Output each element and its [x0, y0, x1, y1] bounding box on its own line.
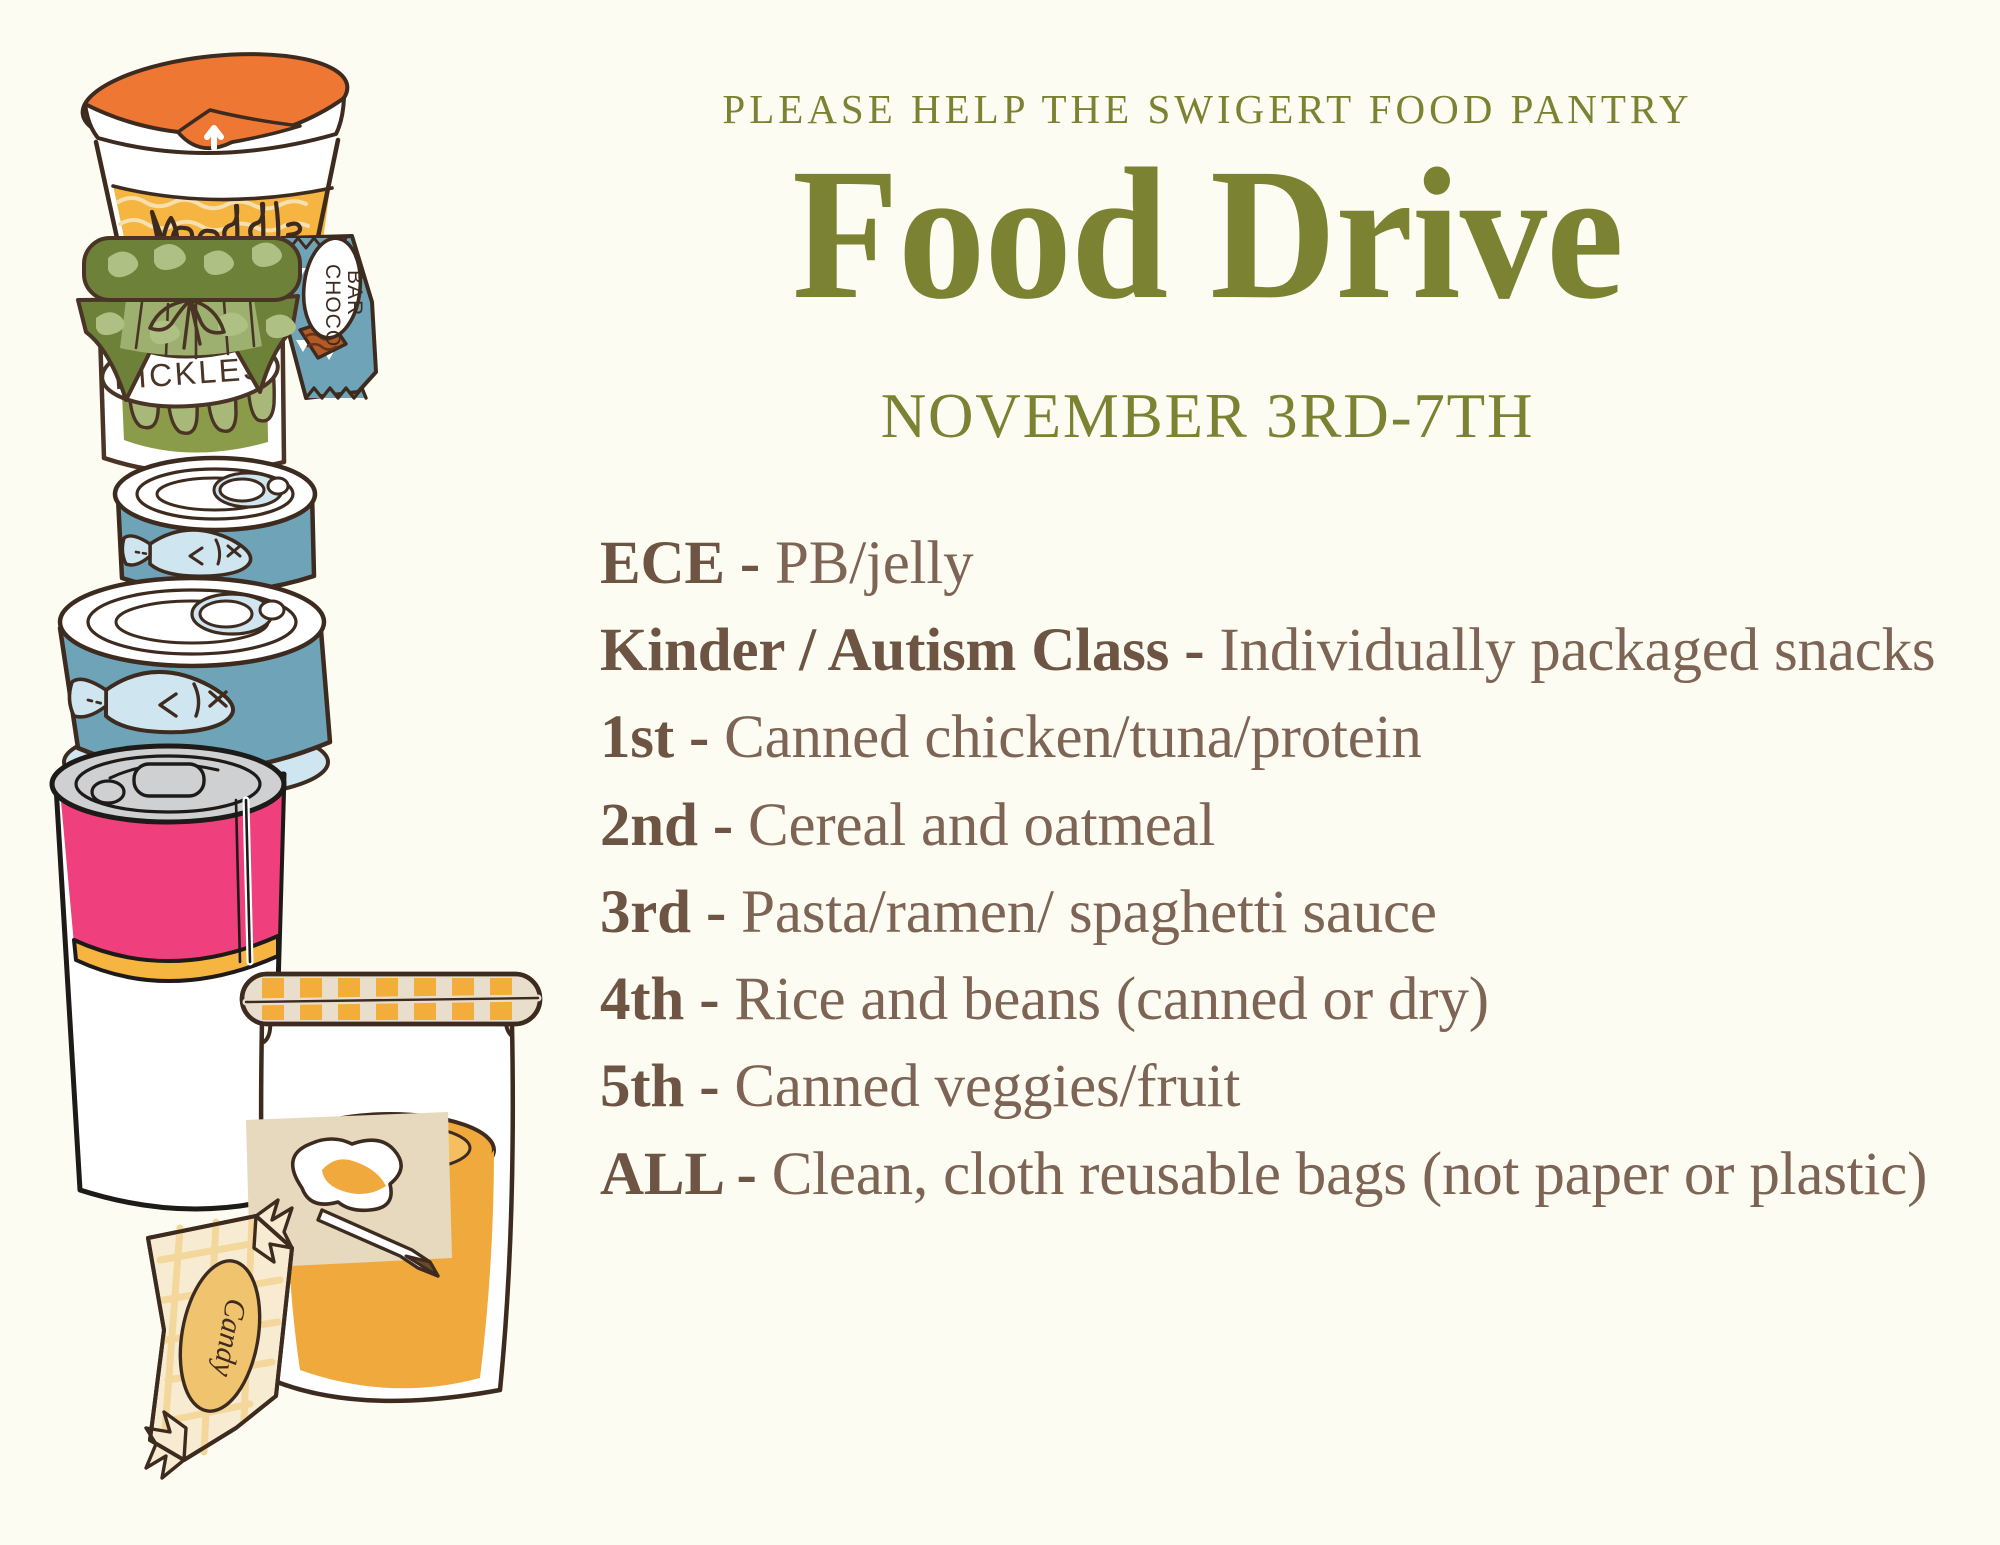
list-item: 1st - Canned chicken/tuna/protein: [600, 694, 2000, 781]
list-item-label: Kinder / Autism Class: [600, 617, 1169, 684]
poster-dateline: NOVEMBER 3RD-7TH: [600, 380, 1815, 453]
list-item-text: Canned veggies/fruit: [734, 1053, 1240, 1120]
sardine-can-upper-illustration: [115, 458, 315, 593]
list-item-dash: -: [1169, 617, 1219, 684]
svg-text:CHOCO: CHOCO: [321, 264, 344, 347]
list-item-dash: -: [691, 879, 741, 946]
list-item-dash: -: [684, 966, 734, 1033]
list-item-text: Clean, cloth reusable bags (not paper or…: [772, 1141, 1928, 1208]
list-item-dash: -: [674, 704, 724, 771]
list-item-label: ECE: [600, 530, 725, 597]
poster-eyebrow: PLEASE HELP THE SWIGERT FOOD PANTRY: [600, 85, 1815, 133]
peanut-butter-jar-illustration: [242, 974, 540, 1401]
poster-text-column: PLEASE HELP THE SWIGERT FOOD PANTRY Food…: [600, 0, 2000, 1545]
candy-wrapper-illustration: Candy: [146, 1200, 292, 1478]
list-item: 5th - Canned veggies/fruit: [600, 1043, 2000, 1130]
list-item: 4th - Rice and beans (canned or dry): [600, 956, 2000, 1043]
list-item-label: ALL: [600, 1141, 721, 1208]
list-item: ECE - PB/jelly: [600, 520, 2000, 607]
list-item-dash: -: [684, 1053, 734, 1120]
list-item-label: 3rd: [600, 879, 691, 946]
list-item-label: 5th: [600, 1053, 684, 1120]
list-item-text: Canned chicken/tuna/protein: [724, 704, 1422, 771]
list-item: 2nd - Cereal and oatmeal: [600, 782, 2000, 869]
list-item-label: 2nd: [600, 792, 698, 859]
list-item-text: PB/jelly: [775, 530, 973, 597]
svg-text:BAR: BAR: [343, 270, 366, 316]
list-item-dash: -: [721, 1141, 771, 1208]
list-item-text: Cereal and oatmeal: [748, 792, 1215, 859]
list-item: ALL - Clean, cloth reusable bags (not pa…: [600, 1131, 2000, 1218]
list-item: Kinder / Autism Class - Individually pac…: [600, 607, 2000, 694]
food-drive-poster: CHOCO BAR: [0, 0, 2000, 1545]
list-item: 3rd - Pasta/ramen/ spaghetti sauce: [600, 869, 2000, 956]
list-item-text: Pasta/ramen/ spaghetti sauce: [741, 879, 1437, 946]
food-illustration: CHOCO BAR: [0, 0, 600, 1545]
list-item-dash: -: [698, 792, 748, 859]
donation-list: ECE - PB/jelly Kinder / Autism Class - I…: [600, 520, 2000, 1218]
list-item-label: 1st: [600, 704, 674, 771]
list-item-dash: -: [725, 530, 775, 597]
pickles-jar-illustration: PICKLES: [78, 238, 300, 473]
list-item-text: Individually packaged snacks: [1219, 617, 1935, 684]
list-item-text: Rice and beans (canned or dry): [734, 966, 1488, 1033]
page-title: Food Drive: [643, 140, 1773, 328]
list-item-label: 4th: [600, 966, 684, 1033]
